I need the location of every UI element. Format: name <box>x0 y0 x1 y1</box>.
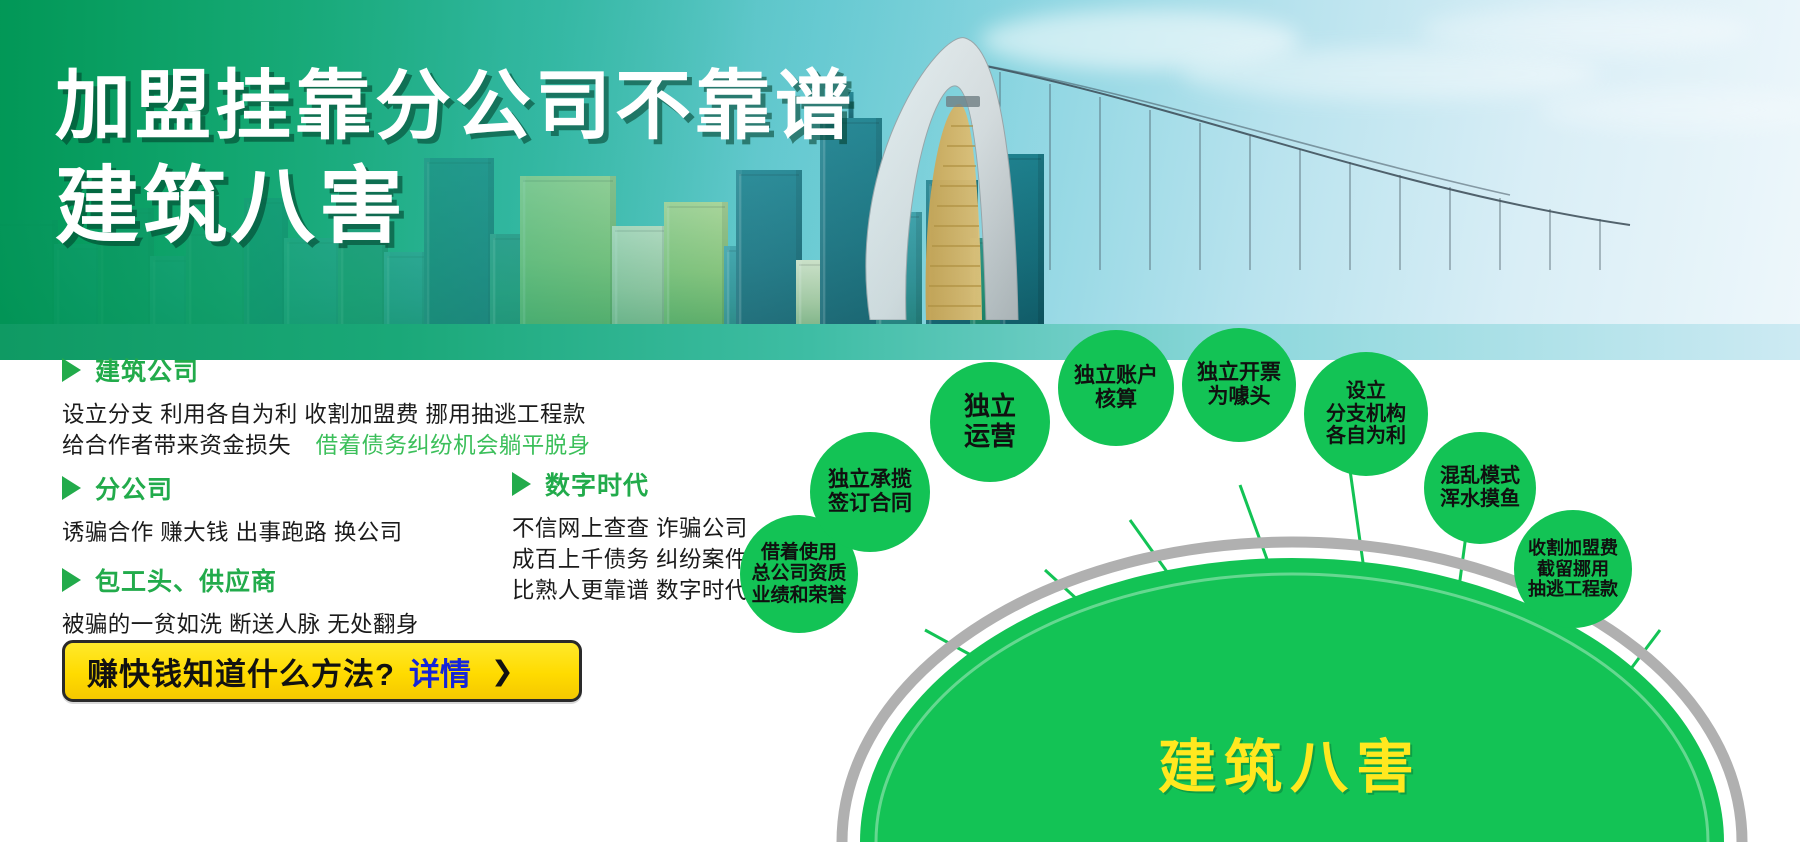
cta-button[interactable]: 赚快钱知道什么方法? 详情 ❯ <box>62 640 582 702</box>
bubble-line: 总公司资质 <box>751 563 846 584</box>
section-title: 建筑公司 <box>95 352 199 388</box>
section-title: 分公司 <box>95 470 173 506</box>
section-body: 诱骗合作 赚大钱 出事跑路 换公司 <box>62 517 403 548</box>
bubble-line: 独立开票 <box>1197 361 1281 384</box>
cta-label: 赚快钱知道什么方法? <box>87 649 395 694</box>
left-content: 建筑公司 设立分支 利用各自为利 收割加盟费 挪用抽逃工程款 给合作者带来资金损… <box>0 360 830 844</box>
chevron-right-icon: ❯ <box>491 656 514 687</box>
bubble-line: 收割加盟费 <box>1528 538 1618 558</box>
section-line: 给合作者带来资金损失 借着债务纠纷机会躺平脱身 <box>62 430 590 461</box>
dome-center-label: 建筑八害 <box>830 720 1750 804</box>
section-contractor-supplier: 包工头、供应商 被骗的一贫如洗 断送人脉 无处翻身 <box>62 562 419 640</box>
section-body: 被骗的一贫如洗 断送人脉 无处翻身 <box>62 609 419 640</box>
section-line: 成百上千债务 纠纷案件 <box>512 544 748 575</box>
bubble-line: 混乱模式 <box>1440 465 1520 487</box>
bubble-line: 独立账户 <box>1074 364 1158 387</box>
bubble-independent-contracting[interactable]: 独立承揽 签订合同 <box>810 432 930 552</box>
hero-title-line1: 加盟挂靠分公司不靠谱 <box>55 64 855 149</box>
section-body: 设立分支 利用各自为利 收割加盟费 挪用抽逃工程款 给合作者带来资金损失 借着债… <box>62 399 590 461</box>
bubble-independent-operation[interactable]: 独立 运营 <box>930 362 1050 482</box>
section-line: 比熟人更靠谱 数字时代 <box>512 575 748 606</box>
bubble-line: 签订合同 <box>828 492 912 515</box>
section-heading: 包工头、供应商 <box>62 562 419 598</box>
bubble-setup-branch[interactable]: 设立 分支机构 各自为利 <box>1304 352 1428 476</box>
hero-title: 加盟挂靠分公司不靠谱 建筑八害 <box>55 64 855 253</box>
bubble-line: 核算 <box>1095 388 1137 411</box>
triangle-bullet-icon <box>512 472 531 496</box>
hero-banner: 加盟挂靠分公司不靠谱 建筑八害 <box>0 0 1800 360</box>
section-line-text: 给合作者带来资金损失 <box>62 433 291 458</box>
bubble-line: 业绩和荣誉 <box>751 585 846 606</box>
section-title: 数字时代 <box>545 466 649 502</box>
bubble-line: 运营 <box>964 421 1016 451</box>
section-heading: 数字时代 <box>512 466 748 502</box>
bubble-line: 分支机构 <box>1326 403 1406 425</box>
section-line: 设立分支 利用各自为利 收割加盟费 挪用抽逃工程款 <box>62 399 590 430</box>
triangle-bullet-icon <box>62 476 81 500</box>
section-body: 不信网上查查 诈骗公司 成百上千债务 纠纷案件 比熟人更靠谱 数字时代 <box>512 513 748 606</box>
bubble-franchise-fee[interactable]: 收割加盟费 截留挪用 抽逃工程款 <box>1514 510 1632 628</box>
triangle-bullet-icon <box>62 568 81 592</box>
bubble-line: 独立承揽 <box>828 468 912 491</box>
section-heading: 建筑公司 <box>62 352 590 388</box>
bubble-line: 设立 <box>1346 380 1386 402</box>
triangle-bullet-icon <box>62 358 81 382</box>
bubble-diagram: 建筑八害 借着使用 总公司资质 业绩和荣誉 独立承揽 签订合同 独立 运营 独立… <box>830 330 1800 844</box>
bubble-independent-account[interactable]: 独立账户 核算 <box>1058 330 1174 446</box>
hero-title-line2: 建筑八害 <box>55 159 855 253</box>
section-construction-company: 建筑公司 设立分支 利用各自为利 收割加盟费 挪用抽逃工程款 给合作者带来资金损… <box>62 352 590 461</box>
section-title: 包工头、供应商 <box>95 562 277 598</box>
bubble-line: 为噱头 <box>1208 385 1271 408</box>
section-branch-company: 分公司 诱骗合作 赚大钱 出事跑路 换公司 <box>62 470 403 548</box>
bubble-line: 借着使用 <box>761 542 837 563</box>
bubble-line: 各自为利 <box>1326 425 1406 447</box>
bubble-line: 抽逃工程款 <box>1528 579 1618 599</box>
section-line: 诱骗合作 赚大钱 出事跑路 换公司 <box>62 517 403 548</box>
cta-link-label[interactable]: 详情 <box>409 649 471 694</box>
bubble-line: 截留挪用 <box>1537 559 1609 579</box>
section-heading: 分公司 <box>62 470 403 506</box>
bubble-chaotic-mode[interactable]: 混乱模式 浑水摸鱼 <box>1424 432 1536 544</box>
section-line-highlight: 借着债务纠纷机会躺平脱身 <box>316 433 591 458</box>
bubble-line: 浑水摸鱼 <box>1440 488 1520 510</box>
bubble-independent-invoicing[interactable]: 独立开票 为噱头 <box>1182 328 1296 442</box>
bubble-line: 独立 <box>964 391 1016 421</box>
section-digital-era: 数字时代 不信网上查查 诈骗公司 成百上千债务 纠纷案件 比熟人更靠谱 数字时代 <box>512 466 748 606</box>
section-line: 不信网上查查 诈骗公司 <box>512 513 748 544</box>
section-line: 被骗的一贫如洗 断送人脉 无处翻身 <box>62 609 419 640</box>
